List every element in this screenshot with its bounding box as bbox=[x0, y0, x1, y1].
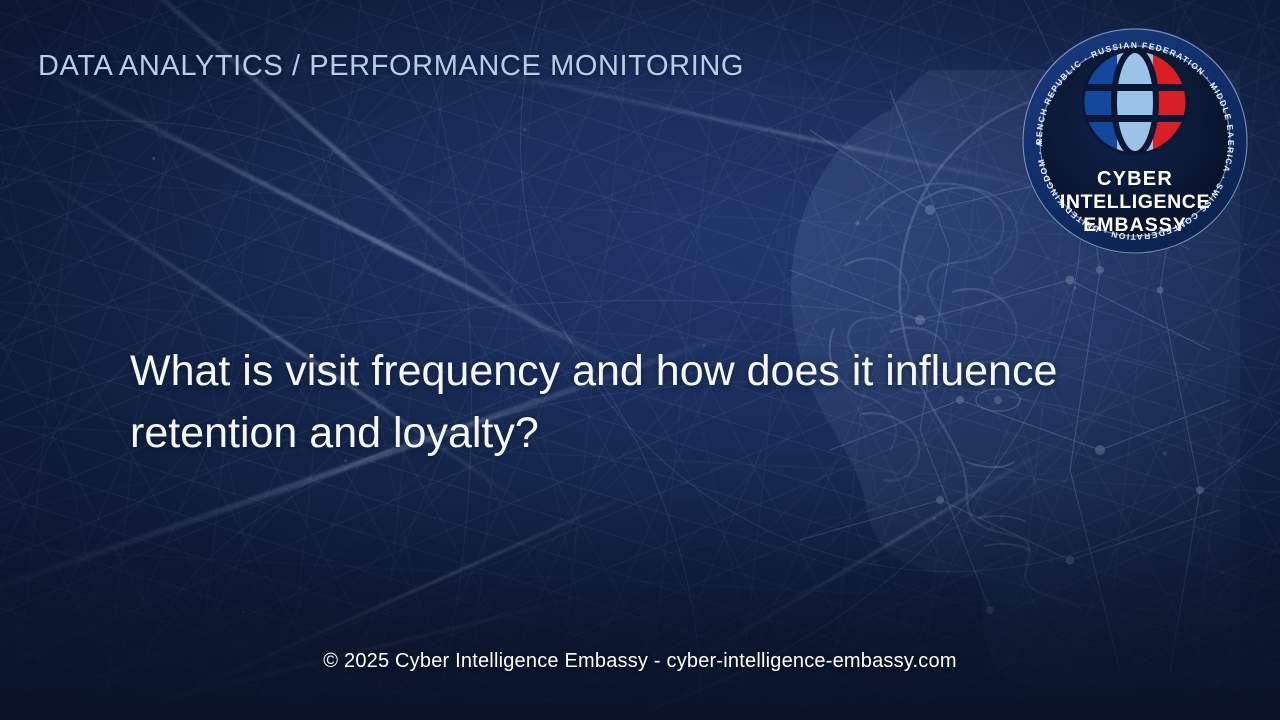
background-bottom-fade bbox=[0, 490, 1280, 720]
footer-copyright: © 2025 Cyber Intelligence Embassy - cybe… bbox=[0, 650, 1280, 673]
slide-canvas: DATA ANALYTICS / PERFORMANCE MONITORING … bbox=[0, 0, 1280, 720]
category-eyebrow: DATA ANALYTICS / PERFORMANCE MONITORING bbox=[38, 50, 744, 83]
seal-wordmark-line-1: CYBER bbox=[1097, 168, 1173, 190]
slide-title-line-2: retention and loyalty? bbox=[130, 402, 1090, 464]
seal-wordmark-line-3: EMBASSY bbox=[1083, 214, 1186, 236]
slide-title-line-1: What is visit frequency and how does it … bbox=[130, 340, 1090, 402]
slide-title: What is visit frequency and how does it … bbox=[130, 340, 1090, 464]
cyber-intelligence-embassy-logo: EUROPEAN UNION · FRENCH REPUBLIC · RUSSI… bbox=[1021, 27, 1249, 255]
seal-wordmark-line-2: INTELLIGENCE bbox=[1060, 191, 1210, 213]
